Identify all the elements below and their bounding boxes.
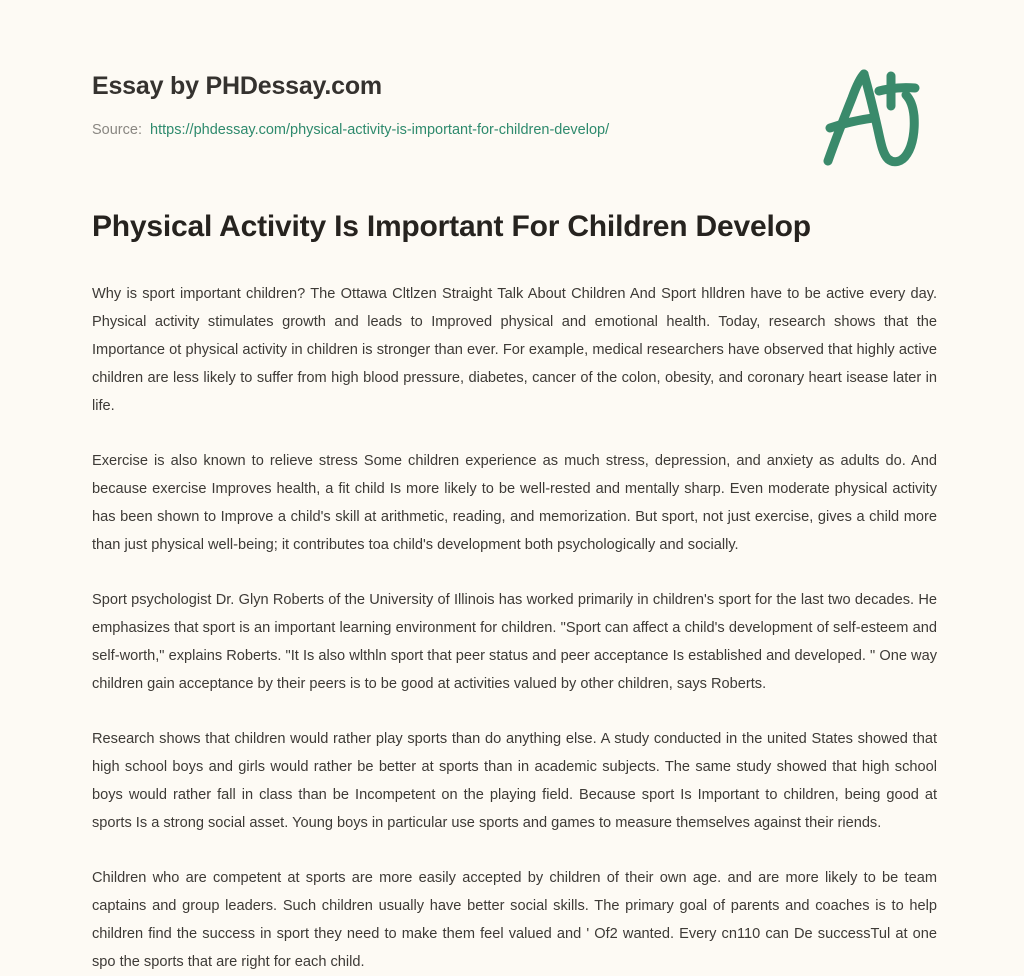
source-url-link[interactable]: https://phdessay.com/physical-activity-i… [150, 122, 609, 138]
source-line: Source: https://phdessay.com/physical-ac… [92, 122, 609, 138]
page-title: Physical Activity Is Important For Child… [92, 208, 937, 246]
phdessay-a-plus-logo-icon [812, 62, 934, 168]
source-label: Source: [92, 122, 142, 138]
article-paragraph: Exercise is also known to relieve stress… [92, 447, 937, 559]
article-paragraph: Why is sport important children? The Ott… [92, 280, 937, 420]
document-header: Essay by PHDessay.com Source: https://ph… [0, 0, 1024, 180]
article-container: Physical Activity Is Important For Child… [92, 208, 937, 976]
brand-title: Essay by PHDessay.com [92, 72, 382, 101]
article-body: Why is sport important children? The Ott… [92, 280, 937, 976]
article-paragraph: Research shows that children would rathe… [92, 725, 937, 837]
article-paragraph: Sport psychologist Dr. Glyn Roberts of t… [92, 586, 937, 698]
document-page: Essay by PHDessay.com Source: https://ph… [0, 0, 1024, 940]
article-paragraph: Children who are competent at sports are… [92, 864, 937, 976]
